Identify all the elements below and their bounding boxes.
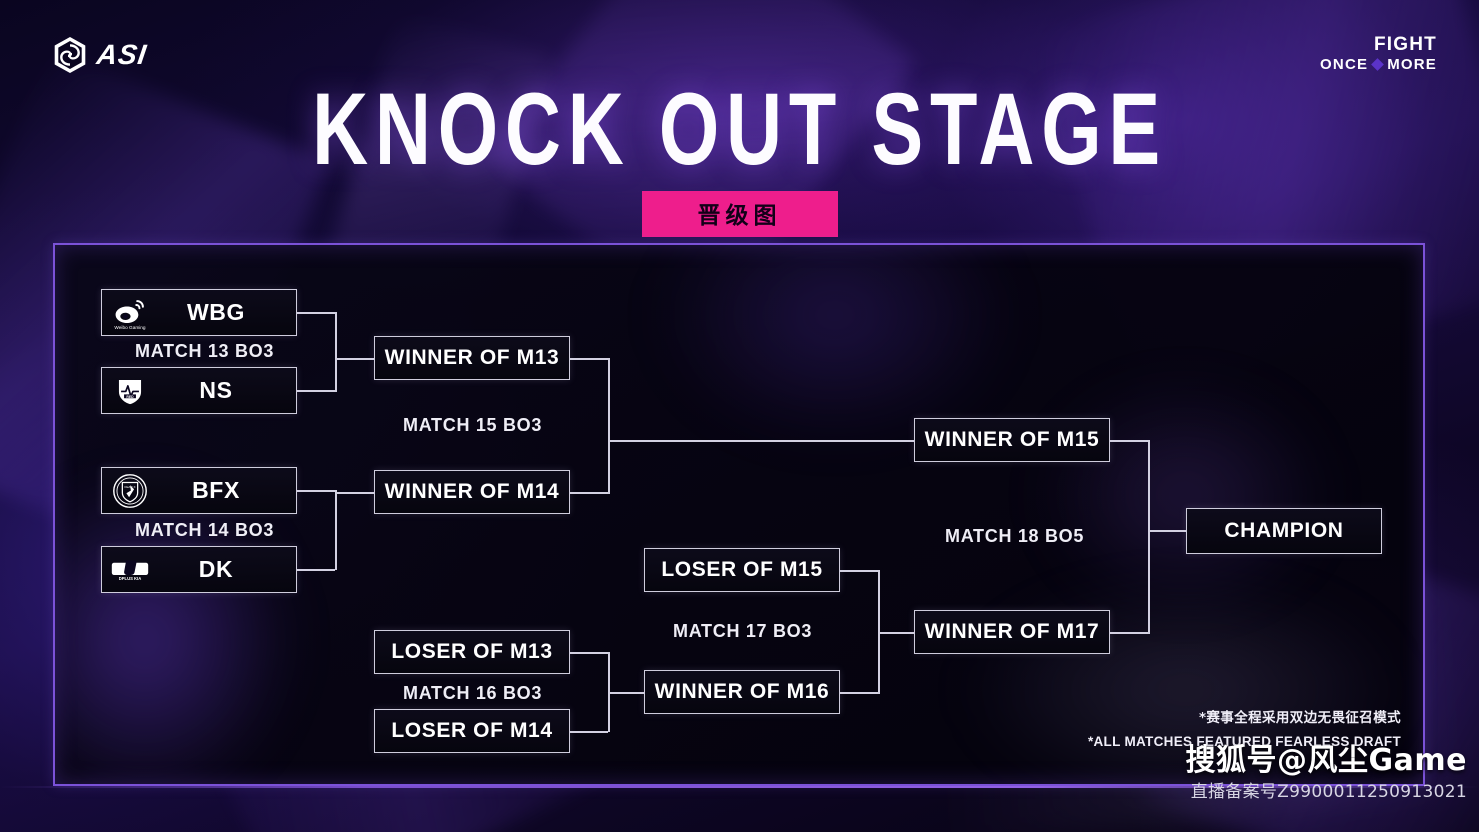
- node-box-champion[interactable]: CHAMPION: [1186, 508, 1382, 554]
- connector-line: [1110, 632, 1148, 634]
- dplus-kia-logo-icon: DPLUS KIA: [110, 551, 150, 589]
- connector-line: [1148, 530, 1186, 532]
- match-label-m14: MATCH 14 BO3: [135, 520, 274, 541]
- team-name: BFX: [150, 477, 296, 504]
- connector-line: [840, 570, 878, 572]
- connector-line: [608, 358, 610, 494]
- weibo-gaming-logo-icon: Weibo Gaming: [110, 294, 150, 332]
- connector-line: [608, 440, 914, 442]
- page-subtitle-banner: 晋级图: [642, 191, 838, 237]
- node-box-winner-m13[interactable]: WINNER OF M13: [374, 336, 570, 380]
- asi-brand-logo: ASI: [52, 36, 147, 74]
- connector-line: [335, 358, 374, 360]
- match-label-m13: MATCH 13 BO3: [135, 341, 274, 362]
- watermark-license: 直播备案号Z9900011250913021: [1186, 777, 1467, 802]
- connector-line: [608, 692, 644, 694]
- panel-glow: [655, 243, 1015, 445]
- team-box-bfx[interactable]: FEAR X BFX: [101, 467, 297, 514]
- connector-line: [840, 692, 878, 694]
- diamond-icon: [1371, 58, 1384, 71]
- team-name: DK: [150, 556, 296, 583]
- connector-line: [297, 490, 335, 492]
- slogan-more-text: MORE: [1387, 56, 1437, 73]
- connector-line: [570, 652, 608, 654]
- page-title-block: KNOCK OUT STAGE 晋级图: [0, 78, 1479, 237]
- match-label-m17: MATCH 17 BO3: [673, 621, 812, 642]
- node-box-winner-m15[interactable]: WINNER OF M15: [914, 418, 1110, 462]
- node-label: WINNER OF M13: [385, 346, 560, 370]
- watermark: 搜狐号@风尘Game 直播备案号Z9900011250913021: [1186, 735, 1467, 802]
- connector-line: [878, 632, 914, 634]
- connector-line: [297, 569, 335, 571]
- node-label: LOSER OF M15: [661, 558, 822, 582]
- bracket-panel: Weibo Gaming WBG RED NS: [53, 243, 1425, 786]
- team-name: NS: [150, 377, 296, 404]
- node-box-loser-m15[interactable]: LOSER OF M15: [644, 548, 840, 592]
- connector-line: [1110, 440, 1148, 442]
- node-box-winner-m17[interactable]: WINNER OF M17: [914, 610, 1110, 654]
- nongshim-shield-logo-icon: RED: [110, 372, 150, 410]
- knockout-stage-poster: ASI FIGHT ONCE MORE KNOCK OUT STAGE 晋级图: [0, 0, 1479, 832]
- watermark-account: 搜狐号@风尘Game: [1186, 735, 1467, 779]
- node-label: WINNER OF M14: [385, 480, 560, 504]
- slogan-line-1: FIGHT: [1320, 34, 1437, 56]
- svg-text:DPLUS KIA: DPLUS KIA: [119, 576, 141, 581]
- node-label: CHAMPION: [1224, 519, 1343, 543]
- node-label: LOSER OF M13: [391, 640, 552, 664]
- node-label: WINNER OF M15: [925, 428, 1100, 452]
- node-box-winner-m16[interactable]: WINNER OF M16: [644, 670, 840, 714]
- match-label-m18: MATCH 18 BO5: [945, 526, 1084, 547]
- connector-line: [335, 490, 337, 570]
- connector-line: [570, 492, 608, 494]
- connector-line: [570, 358, 608, 360]
- node-box-loser-m13[interactable]: LOSER OF M13: [374, 630, 570, 674]
- node-label: WINNER OF M17: [925, 620, 1100, 644]
- asi-hexagon-swirl-icon: [52, 36, 88, 74]
- asi-logo-text: ASI: [95, 39, 149, 71]
- slogan-line-2: ONCE MORE: [1320, 56, 1437, 73]
- panel-glow: [1035, 375, 1335, 615]
- node-label: LOSER OF M14: [391, 719, 552, 743]
- connector-line: [335, 492, 374, 494]
- connector-line: [570, 731, 608, 733]
- match-label-m15: MATCH 15 BO3: [403, 415, 542, 436]
- svg-text:RED: RED: [126, 394, 134, 398]
- team-box-dk[interactable]: DPLUS KIA DK: [101, 546, 297, 593]
- event-slogan: FIGHT ONCE MORE: [1320, 34, 1437, 73]
- node-box-loser-m14[interactable]: LOSER OF M14: [374, 709, 570, 753]
- svg-text:FEAR X: FEAR X: [124, 484, 135, 488]
- node-box-winner-m14[interactable]: WINNER OF M14: [374, 470, 570, 514]
- team-box-ns[interactable]: RED NS: [101, 367, 297, 414]
- page-title: KNOCK OUT STAGE: [22, 78, 1457, 180]
- slogan-once-text: ONCE: [1320, 56, 1368, 73]
- bilibili-fearx-crest-logo-icon: FEAR X: [110, 472, 150, 510]
- team-name: WBG: [150, 299, 296, 326]
- svg-text:Weibo Gaming: Weibo Gaming: [114, 325, 145, 331]
- connector-line: [297, 390, 335, 392]
- team-box-wbg[interactable]: Weibo Gaming WBG: [101, 289, 297, 336]
- match-label-m16: MATCH 16 BO3: [403, 683, 542, 704]
- connector-line: [335, 312, 337, 392]
- connector-line: [1148, 440, 1150, 634]
- footnote-chinese: *赛事全程采用双边无畏征召模式: [1199, 706, 1401, 726]
- node-label: WINNER OF M16: [655, 680, 830, 704]
- connector-line: [297, 312, 335, 314]
